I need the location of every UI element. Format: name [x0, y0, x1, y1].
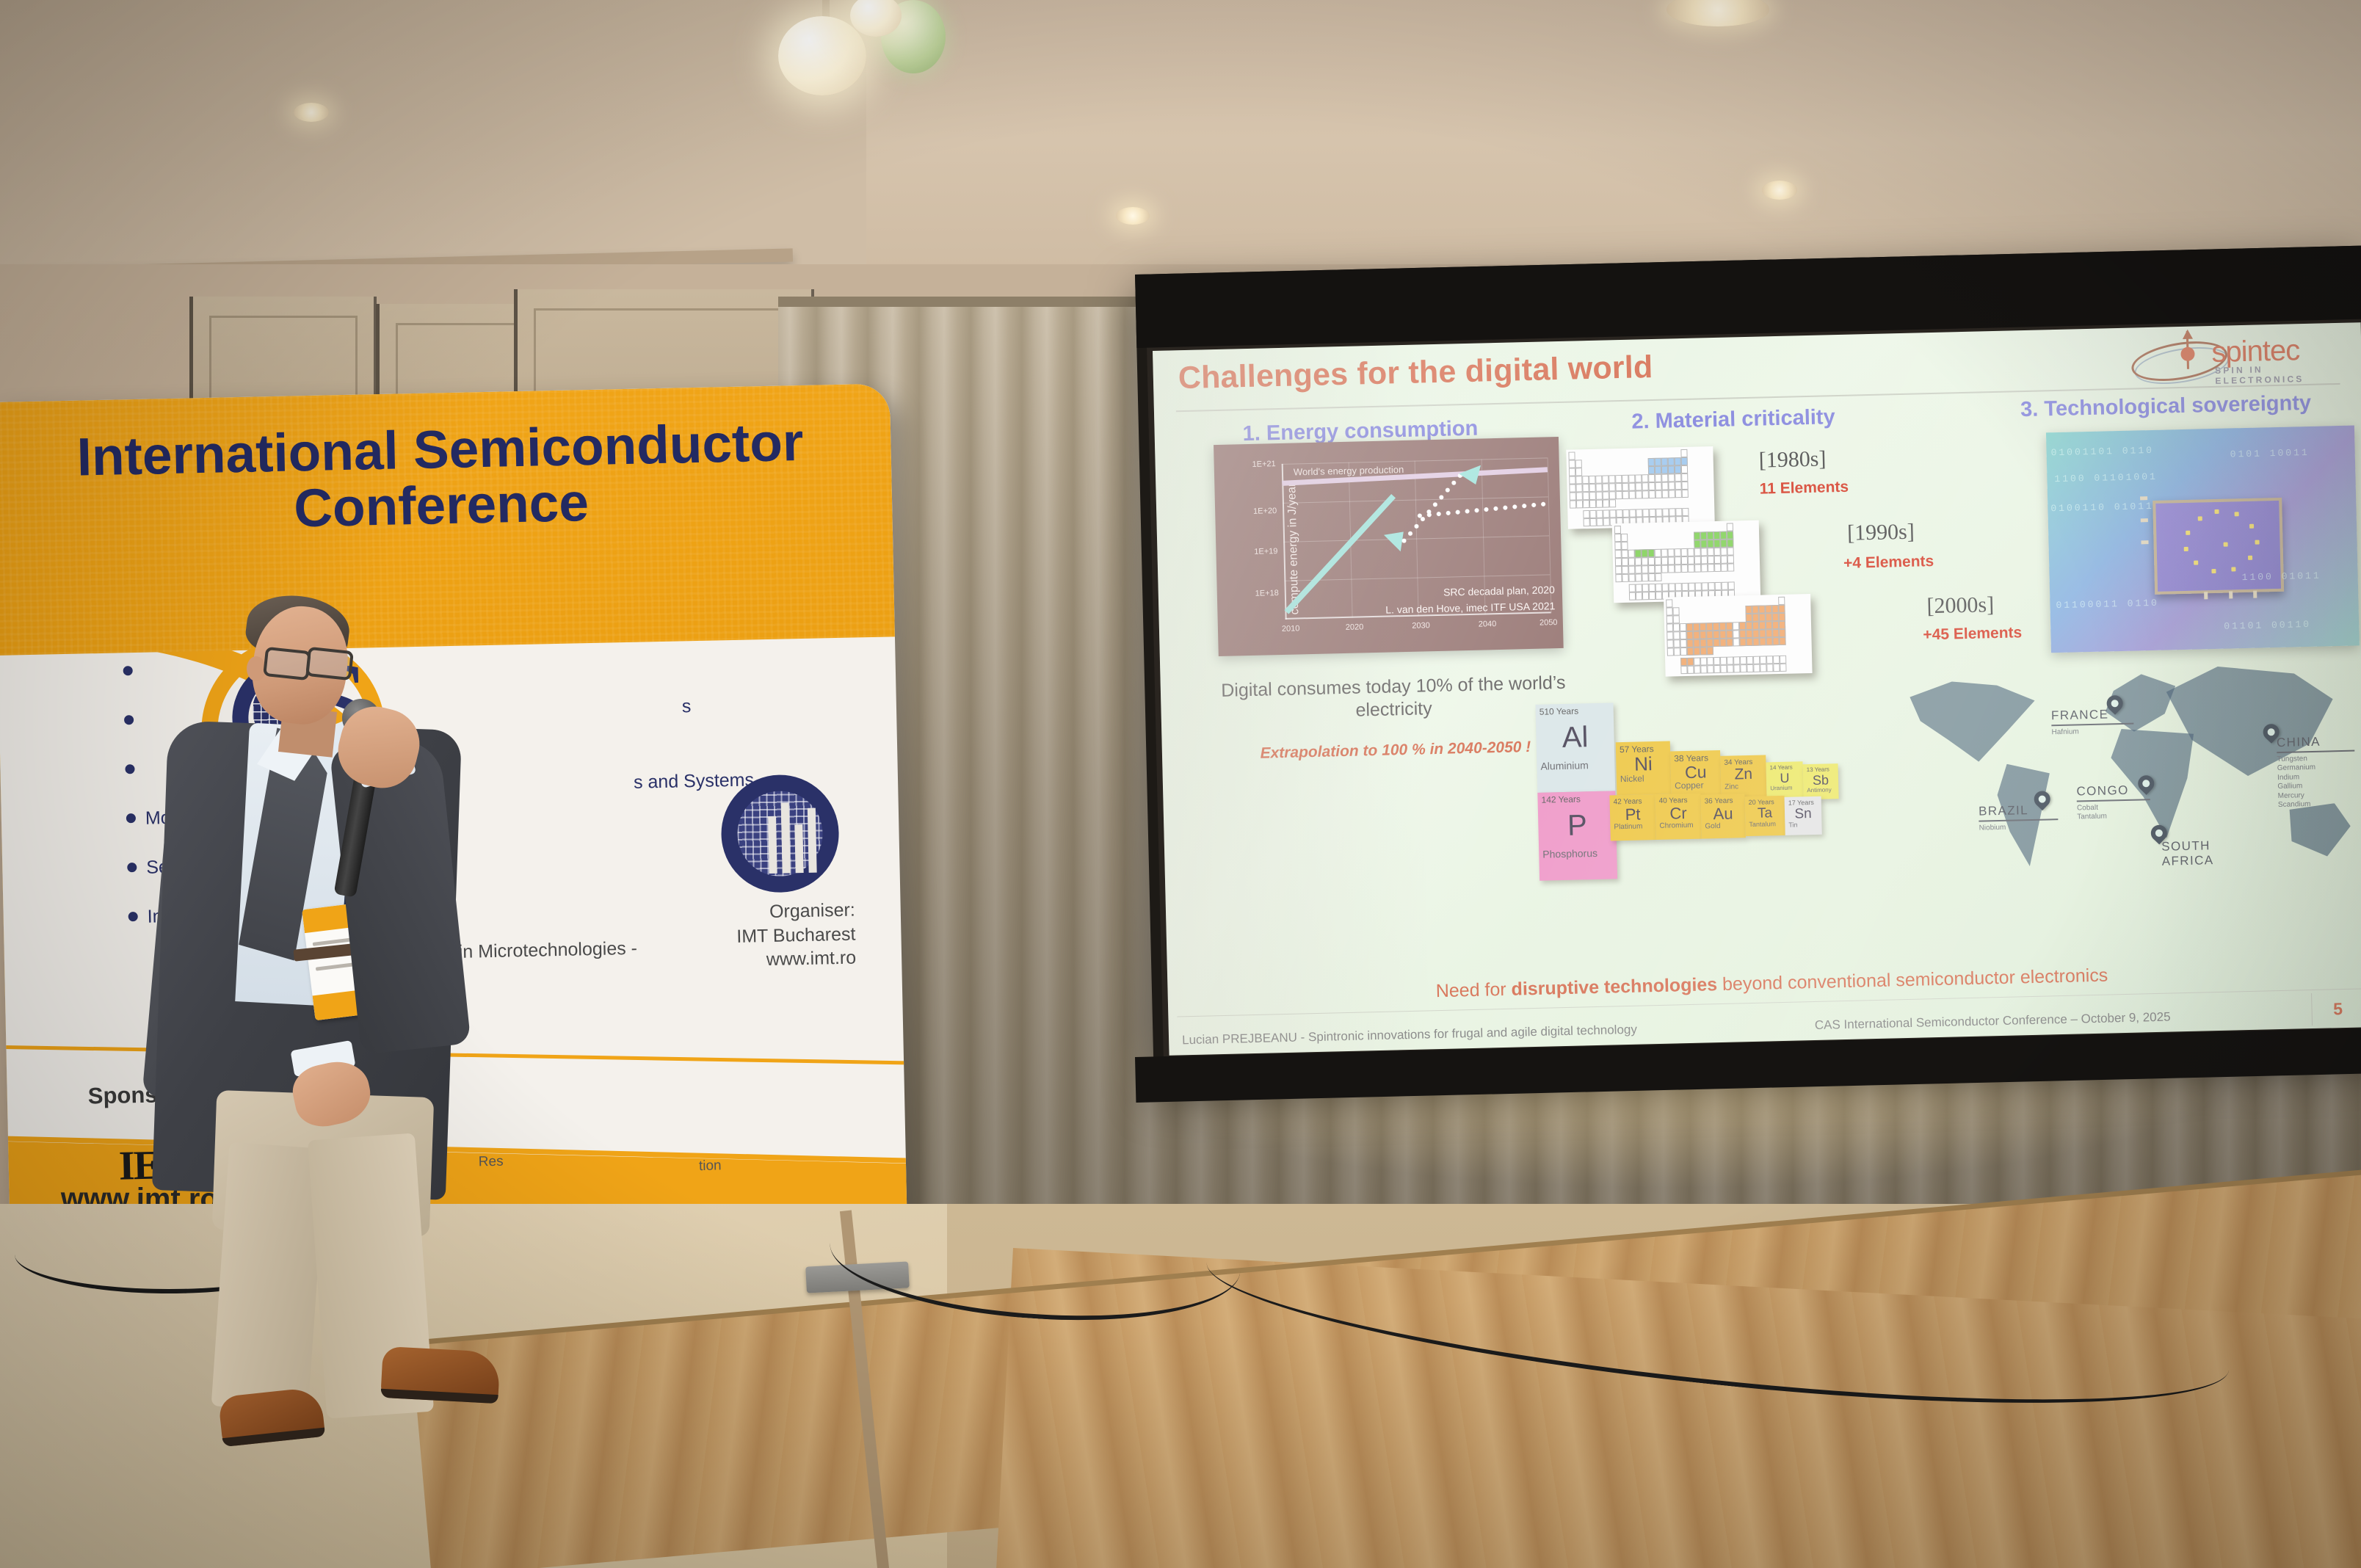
- periodic-cell: [1681, 548, 1688, 556]
- periodic-cell: [1622, 550, 1628, 558]
- periodic-table-1980s: [1566, 446, 1714, 529]
- periodic-cell: [1668, 556, 1675, 565]
- periodic-cell: [1655, 458, 1661, 466]
- periodic-cell: [1759, 613, 1766, 621]
- periodic-cell: [1609, 499, 1616, 507]
- element-card-ta: 20 Years Ta Tantalum: [1745, 796, 1785, 836]
- periodic-cell: [1642, 466, 1648, 474]
- periodic-cell: [1773, 664, 1780, 672]
- periodic-cell: [1602, 483, 1609, 491]
- downlight-1: [294, 103, 329, 122]
- periodic-cell: [1746, 638, 1752, 646]
- periodic-cell: [1708, 548, 1714, 556]
- periodic-cell: [1675, 498, 1682, 506]
- periodic-cell: [1739, 630, 1746, 638]
- periodic-cell: [1740, 656, 1747, 664]
- periodic-cell: [1642, 509, 1649, 517]
- periodic-cell: [1675, 482, 1681, 490]
- periodic-cell: [1747, 646, 1753, 654]
- periodic-cell: [1576, 492, 1583, 500]
- periodic-cell: [1614, 526, 1621, 534]
- chart-series-extrapolation: [1399, 471, 1465, 546]
- periodic-cell: [1700, 523, 1707, 531]
- map-label-underline: [2277, 750, 2356, 753]
- periodic-cell: [1720, 540, 1727, 548]
- periodic-cell: [1614, 451, 1621, 459]
- periodic-cell: [1719, 606, 1725, 614]
- periodic-cell: [1778, 597, 1785, 605]
- periodic-cell: [1682, 508, 1689, 516]
- periodic-cell: [1701, 564, 1708, 572]
- periodic-cell: [1615, 459, 1622, 467]
- periodic-cell: [1733, 622, 1739, 630]
- element-card-ni: 57 Years Ni Nickel: [1616, 741, 1672, 796]
- periodic-cell: [1708, 564, 1714, 572]
- periodic-cell: [1672, 607, 1679, 615]
- periodic-cell: [1692, 607, 1699, 615]
- binary-texture: 01100011 0110: [2056, 598, 2159, 611]
- chart-arrowhead-extrapolation-icon: [1459, 465, 1487, 488]
- speaker-left-shoe: [218, 1387, 325, 1447]
- periodic-cell: [1705, 606, 1712, 614]
- periodic-cell: [1629, 491, 1636, 499]
- periodic-cell: [1673, 615, 1680, 623]
- periodic-cell: [1635, 474, 1642, 482]
- periodic-cell: [1772, 637, 1779, 645]
- periodic-cell: [1706, 631, 1713, 639]
- periodic-cell: [1582, 476, 1589, 484]
- periodic-cell: [1667, 639, 1673, 647]
- continent-oceania: [2280, 803, 2351, 857]
- periodic-cell: [1628, 542, 1634, 550]
- periodic-cell: [1621, 534, 1628, 542]
- decade-label-2000s: [2000s]: [1926, 592, 1994, 619]
- bullet-dot-icon: [123, 666, 133, 675]
- periodic-cell: [1570, 518, 1577, 526]
- periodic-cell: [1753, 646, 1760, 654]
- periodic-cell: [1727, 656, 1733, 664]
- periodic-cell: [1655, 466, 1661, 474]
- periodic-cell: [1758, 597, 1765, 605]
- periodic-cell: [1766, 656, 1773, 664]
- periodic-cell: [1595, 460, 1602, 468]
- research-fragment-right: tion: [699, 1158, 722, 1175]
- periodic-cell: [1752, 622, 1759, 630]
- map-label-underline: [2051, 723, 2133, 726]
- periodic-cell: [1655, 482, 1661, 490]
- periodic-cell: [1675, 583, 1682, 591]
- periodic-cell: [1583, 492, 1589, 500]
- periodic-cell: [1602, 467, 1609, 475]
- periodic-cell: [1760, 645, 1766, 653]
- periodic-cell: [1753, 656, 1760, 664]
- periodic-cell: [1602, 475, 1609, 483]
- periodic-cell: [1609, 483, 1615, 491]
- periodic-cell: [1649, 498, 1655, 507]
- periodic-cell: [1766, 629, 1772, 637]
- periodic-cell: [1693, 639, 1700, 647]
- periodic-cell: [1597, 518, 1603, 526]
- periodic-cell: [1752, 598, 1758, 606]
- spintec-arrowhead-icon: [2183, 330, 2193, 339]
- periodic-cell: [1641, 450, 1647, 458]
- periodic-cell: [1726, 614, 1733, 622]
- element-symbol: P: [1542, 810, 1613, 842]
- chip-pin: [2253, 591, 2257, 598]
- periodic-cell: [1603, 509, 1609, 518]
- periodic-cell: [1629, 499, 1636, 507]
- periodic-cell: [1622, 584, 1629, 592]
- periodic-cell: [1686, 623, 1693, 631]
- periodic-cell: [1570, 492, 1576, 500]
- periodic-cell: [1722, 582, 1728, 590]
- periodic-cell: [1622, 483, 1628, 491]
- periodic-cell: [1765, 605, 1771, 613]
- element-symbol: Cr: [1659, 805, 1698, 822]
- periodic-cell: [1687, 540, 1694, 548]
- periodic-cell: [1642, 557, 1648, 565]
- periodic-cell: [1588, 451, 1595, 460]
- decade-count-1990s: +4 Elements: [1843, 553, 1934, 573]
- periodic-cell: [1713, 540, 1720, 548]
- bullet-dot-icon: [125, 764, 134, 774]
- periodic-cell: [1575, 460, 1582, 468]
- slide-page-number: 5: [2311, 992, 2361, 1026]
- map-label-china: CHINA Tungsten Germanium Indium Gallium …: [2277, 734, 2357, 810]
- periodic-cell: [1589, 500, 1596, 508]
- periodic-cell: [1667, 658, 1674, 666]
- periodic-cell: [1673, 631, 1680, 639]
- periodic-cell: [1688, 548, 1694, 556]
- element-symbol: Zn: [1724, 766, 1763, 783]
- element-name: Platinum: [1614, 822, 1652, 831]
- periodic-cell: [1666, 607, 1672, 615]
- element-symbol: Ni: [1620, 754, 1667, 775]
- periodic-cell: [1569, 468, 1575, 476]
- element-symbol: Pt: [1614, 805, 1653, 823]
- periodic-cell: [1752, 606, 1758, 614]
- periodic-cell: [1681, 473, 1688, 482]
- periodic-cell: [1649, 592, 1655, 600]
- periodic-cell: [1636, 584, 1642, 592]
- periodic-cell: [1700, 531, 1707, 540]
- periodic-cell: [1713, 523, 1720, 531]
- periodic-cell: [1648, 557, 1655, 565]
- periodic-cell: [1570, 510, 1576, 518]
- periodic-cell: [1712, 606, 1719, 614]
- chart-y-tick: 1E+20: [1253, 507, 1277, 516]
- periodic-cell: [1635, 573, 1642, 581]
- map-materials: Hafnium: [2051, 726, 2133, 737]
- periodic-cell: [1727, 523, 1733, 531]
- periodic-cell: [1715, 582, 1722, 590]
- periodic-cell: [1661, 482, 1668, 490]
- periodic-cell: [1687, 658, 1694, 666]
- periodic-cell: [1713, 531, 1720, 540]
- periodic-cell: [1635, 482, 1642, 490]
- periodic-cell: [1700, 639, 1706, 647]
- periodic-cell: [1713, 614, 1719, 623]
- energy-highlight-text: Extrapolation to 100 % in 2040-2050 !: [1205, 737, 1586, 763]
- periodic-cell: [1674, 524, 1680, 532]
- periodic-cell: [1590, 518, 1597, 526]
- periodic-cell: [1702, 582, 1708, 590]
- periodic-cell: [1674, 449, 1680, 457]
- element-card-sn: 17 Years Sn Tin: [1785, 796, 1822, 835]
- periodic-cell: [1635, 549, 1642, 557]
- periodic-cell: [1667, 449, 1674, 457]
- spintec-tagline: SPIN IN ELECTRONICS: [2215, 363, 2346, 386]
- periodic-cell: [1577, 518, 1584, 526]
- periodic-cell: [1661, 466, 1668, 474]
- periodic-cell: [1667, 666, 1674, 674]
- periodic-cell: [1622, 566, 1628, 574]
- speaker-eyeglasses-right-lens: [305, 647, 354, 680]
- periodic-cell: [1662, 508, 1669, 516]
- periodic-cell: [1681, 573, 1688, 581]
- map-label-underline: [2162, 868, 2256, 872]
- conference-photo-scene: Challenges for the digital world spintec…: [0, 0, 2361, 1568]
- speaker-eyeglasses-left-lens: [263, 647, 311, 680]
- periodic-cell: [1694, 540, 1700, 548]
- periodic-cell: [1641, 533, 1647, 541]
- periodic-cell: [1667, 532, 1674, 540]
- map-label-underline: [2077, 799, 2150, 802]
- periodic-cell: [1675, 573, 1681, 581]
- slide-title: Challenges for the digital world: [1178, 349, 1653, 396]
- periodic-cell: [1661, 533, 1667, 541]
- periodic-cell: [1700, 665, 1707, 673]
- periodic-cell: [1706, 614, 1713, 623]
- periodic-cell: [1760, 664, 1766, 672]
- periodic-cell: [1759, 637, 1766, 645]
- periodic-cell: [1614, 542, 1621, 550]
- periodic-cell: [1636, 490, 1642, 498]
- periodic-cell: [1747, 664, 1753, 672]
- eu-star: [2211, 569, 2216, 573]
- periodic-cell: [1700, 614, 1706, 623]
- chart-x-tick: 2010: [1282, 624, 1300, 634]
- periodic-cell: [1661, 549, 1668, 557]
- periodic-cell: [1647, 533, 1654, 541]
- periodic-cell: [1720, 665, 1727, 673]
- periodic-cell: [1688, 565, 1694, 573]
- periodic-cell: [1661, 458, 1668, 466]
- periodic-cell: [1720, 657, 1727, 665]
- periodic-cell: [1733, 656, 1740, 664]
- periodic-cell: [1680, 540, 1687, 548]
- periodic-cell: [1727, 539, 1733, 547]
- pendant-globe-main: [778, 16, 866, 95]
- periodic-cell: [1615, 483, 1622, 491]
- topic-fragment-right-1: s: [682, 696, 692, 717]
- binary-texture: 01001101 0110: [2050, 445, 2154, 458]
- periodic-cell: [1752, 630, 1759, 638]
- periodic-cell: [1642, 592, 1649, 600]
- periodic-cell: [1629, 509, 1636, 518]
- periodic-cell: [1687, 524, 1694, 532]
- periodic-cell: [1589, 460, 1595, 468]
- eu-star: [2215, 509, 2219, 513]
- element-name: Nickel: [1620, 774, 1667, 785]
- periodic-cell: [1694, 666, 1700, 674]
- periodic-cell: [1583, 510, 1589, 518]
- periodic-cell: [1628, 534, 1634, 542]
- bottom-statement-pre: Need for: [1435, 979, 1511, 1001]
- periodic-cell: [1714, 564, 1721, 572]
- energy-chart: compute energy in J/year 1E+21 1E+20 1E+…: [1214, 437, 1564, 656]
- periodic-cell: [1669, 583, 1675, 591]
- periodic-cell: [1726, 638, 1733, 646]
- periodic-cell: [1739, 638, 1746, 646]
- periodic-cell: [1681, 565, 1688, 573]
- chip-pin: [2141, 518, 2148, 522]
- periodic-cell: [1589, 492, 1596, 500]
- periodic-cell: [1616, 499, 1622, 507]
- energy-body-text: Digital consumes today 10% of the world’…: [1211, 672, 1577, 726]
- eu-star: [2186, 531, 2190, 535]
- periodic-cell: [1615, 475, 1622, 483]
- element-card-sb: 13 Years Sb Antimony: [1803, 763, 1839, 799]
- periodic-cell: [1708, 556, 1714, 564]
- periodic-cell: [1727, 531, 1733, 539]
- periodic-cell: [1719, 639, 1726, 647]
- periodic-cell: [1719, 614, 1726, 623]
- periodic-cell: [1688, 573, 1694, 581]
- periodic-cell: [1636, 498, 1642, 507]
- world-map: FRANCE Hafnium BRAZIL Niobium CONGO Coba…: [1894, 652, 2357, 876]
- periodic-cell: [1680, 532, 1687, 540]
- periodic-cell: [1629, 584, 1636, 592]
- element-symbol: U: [1770, 771, 1799, 785]
- periodic-cell: [1668, 473, 1675, 482]
- periodic-cell: [1686, 615, 1693, 623]
- periodic-cell: [1655, 498, 1662, 507]
- periodic-cell: [1700, 631, 1706, 639]
- binary-texture: 0101 10011: [2230, 447, 2310, 460]
- chip-pin: [2229, 591, 2233, 598]
- map-label-brazil: BRAZIL Niobium: [1979, 802, 2059, 833]
- topic-label: [142, 661, 142, 681]
- periodic-cell: [1675, 548, 1681, 556]
- periodic-cell: [1700, 647, 1707, 655]
- periodic-cell: [1682, 498, 1689, 506]
- periodic-cell: [1668, 482, 1675, 490]
- bullet-dot-icon: [128, 912, 138, 921]
- periodic-cell: [1642, 458, 1648, 466]
- periodic-cell: [1701, 548, 1708, 556]
- decade-count-2000s: +45 Elements: [1923, 624, 2022, 644]
- periodic-cell: [1628, 475, 1635, 483]
- periodic-cell: [1745, 606, 1752, 614]
- periodic-cell: [1654, 525, 1661, 533]
- topic-label: [144, 759, 145, 780]
- periodic-cell: [1596, 492, 1603, 500]
- periodic-cell: [1569, 484, 1575, 492]
- element-symbol: Cu: [1674, 763, 1717, 782]
- periodic-cell: [1707, 647, 1713, 655]
- periodic-cell: [1648, 565, 1655, 573]
- periodic-cell: [1720, 531, 1727, 540]
- element-card-pt: 42 Years Pt Platinum: [1609, 794, 1655, 841]
- periodic-cell: [1707, 523, 1713, 531]
- periodic-cell: [1713, 647, 1720, 655]
- periodic-cell: [1669, 508, 1675, 516]
- slide-footer-right: CAS International Semiconductor Conferen…: [1815, 1010, 2171, 1033]
- periodic-cell: [1584, 518, 1590, 526]
- periodic-cell: [1733, 646, 1740, 654]
- chip-pin: [2204, 592, 2208, 599]
- periodic-cell: [1622, 499, 1629, 507]
- periodic-cell: [1647, 525, 1654, 533]
- periodic-cell: [1680, 639, 1686, 647]
- chart-y-tick: 1E+21: [1252, 460, 1275, 469]
- periodic-cell: [1673, 639, 1680, 647]
- periodic-cell: [1655, 549, 1661, 557]
- periodic-cell: [1615, 574, 1622, 582]
- periodic-cell: [1719, 623, 1726, 631]
- periodic-cell: [1622, 574, 1628, 582]
- chart-x-tick: 2040: [1479, 620, 1497, 629]
- periodic-cell: [1642, 490, 1649, 498]
- periodic-cell: [1595, 484, 1602, 492]
- map-materials: Tungsten Germanium Indium Gallium Mercur…: [2277, 753, 2357, 810]
- periodic-cell: [1642, 565, 1648, 573]
- periodic-cell: [1779, 629, 1785, 637]
- periodic-cell: [1628, 550, 1635, 558]
- element-symbol: Ta: [1749, 806, 1781, 821]
- periodic-table-1990s: [1612, 520, 1760, 603]
- periodic-cell: [1746, 630, 1752, 638]
- column-heading-sovereignty: 3. Technological sovereignty: [2020, 391, 2312, 422]
- periodic-cell: [1721, 556, 1727, 564]
- eu-chip-image: 01001101 0110 1100 01101001 0100110 0101…: [2046, 425, 2360, 653]
- periodic-cell: [1628, 483, 1635, 491]
- periodic-cell: [1621, 451, 1628, 459]
- periodic-cell: [1745, 598, 1752, 606]
- element-name: Chromium: [1659, 821, 1697, 830]
- element-symbol: Al: [1539, 722, 1611, 754]
- periodic-cell: [1609, 475, 1615, 483]
- eu-star: [2235, 512, 2239, 517]
- map-materials: Niobium: [1979, 822, 2058, 833]
- periodic-cell: [1680, 449, 1687, 457]
- periodic-cell: [1616, 584, 1622, 592]
- periodic-cell: [1667, 647, 1674, 656]
- periodic-cell: [1773, 656, 1780, 664]
- periodic-cell: [1609, 491, 1616, 499]
- periodic-cell: [1772, 621, 1779, 629]
- periodic-cell: [1701, 572, 1708, 580]
- binary-texture: 1100 01101001: [2054, 471, 2158, 484]
- periodic-cell: [1655, 509, 1662, 517]
- decade-label-1980s: [1980s]: [1758, 446, 1826, 473]
- bottom-statement-post: beyond conventional semiconductor electr…: [1717, 965, 2108, 995]
- periodic-cell: [1765, 597, 1771, 605]
- periodic-cell: [1668, 565, 1675, 573]
- periodic-cell: [1601, 451, 1608, 459]
- element-card-cu: 38 Years Cu Copper: [1670, 750, 1722, 800]
- element-name: Uranium: [1770, 785, 1799, 792]
- periodic-cell: [1681, 457, 1688, 465]
- periodic-cell: [1675, 508, 1682, 516]
- periodic-cell: [1614, 534, 1621, 542]
- periodic-cell: [1582, 468, 1589, 476]
- periodic-cell: [1780, 656, 1786, 664]
- periodic-cell: [1707, 657, 1713, 665]
- periodic-cell: [1668, 457, 1675, 465]
- periodic-cell: [1669, 498, 1675, 506]
